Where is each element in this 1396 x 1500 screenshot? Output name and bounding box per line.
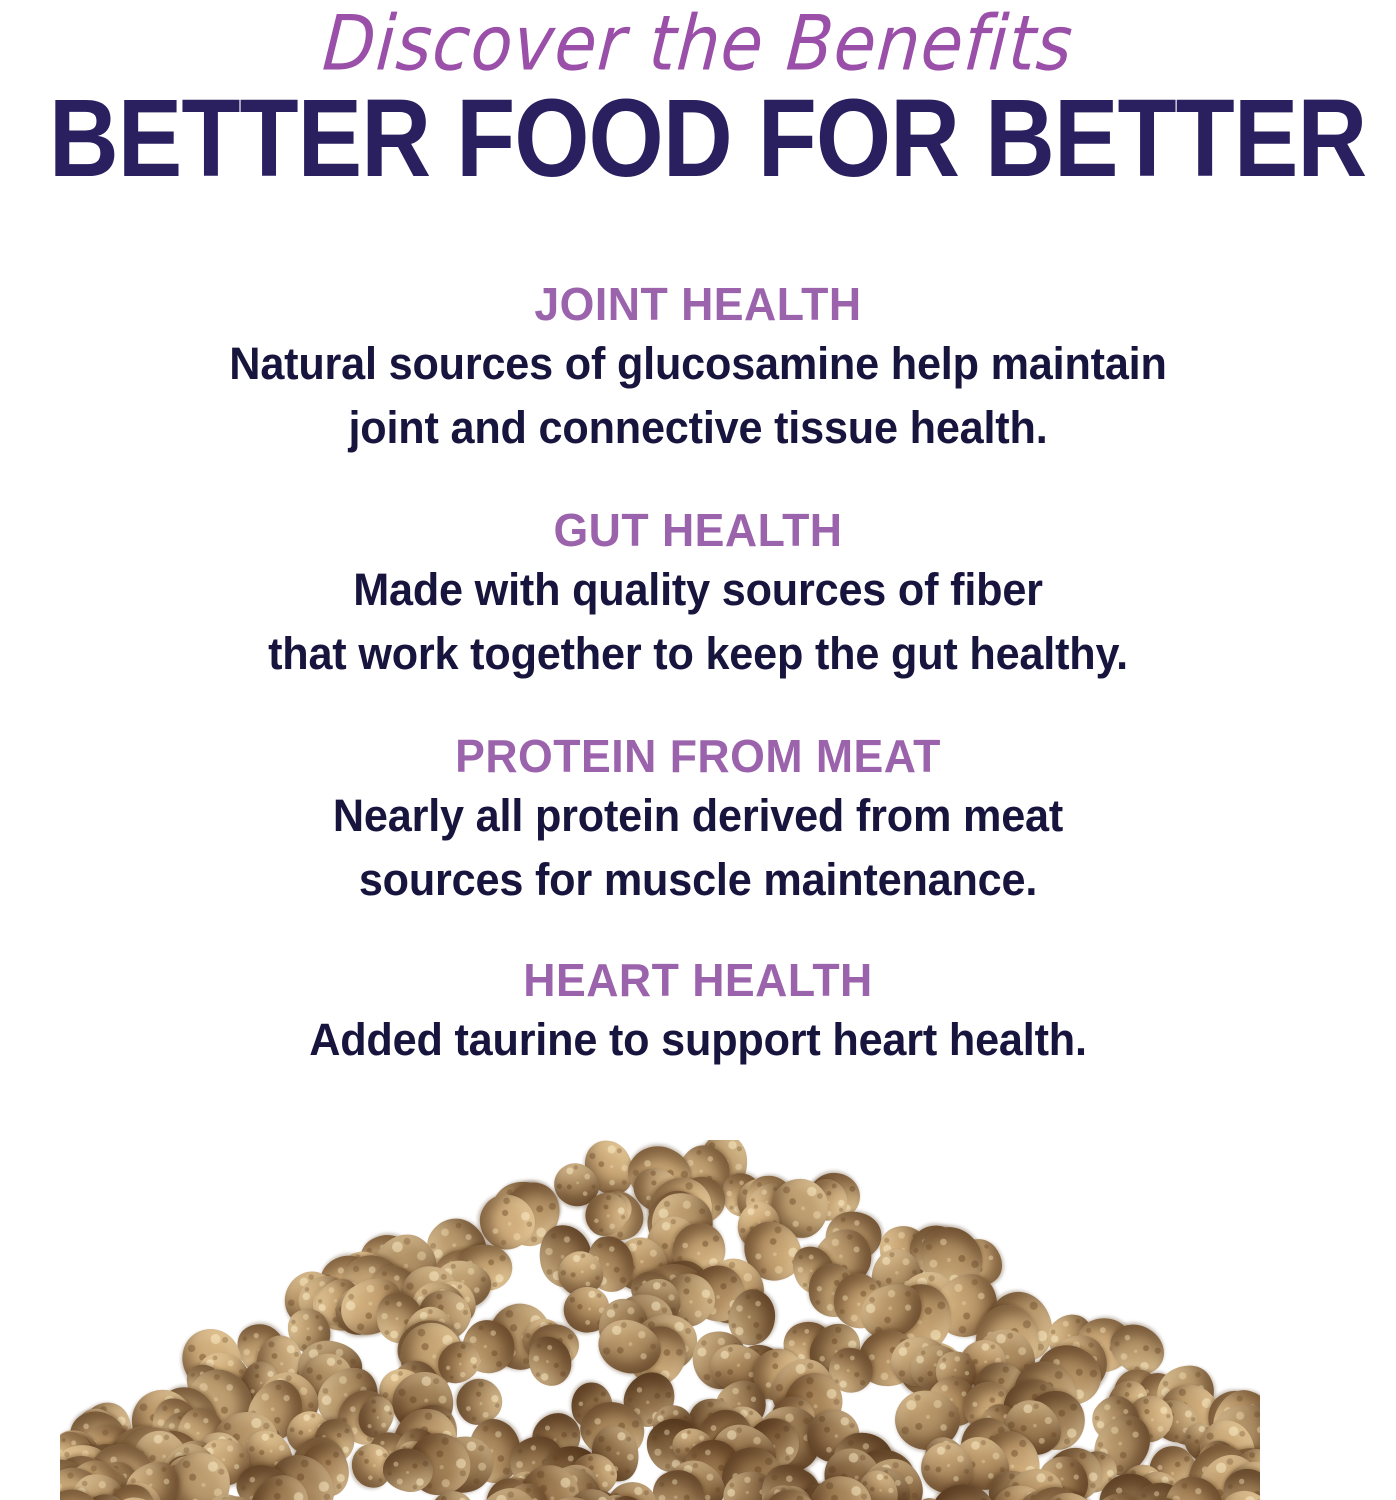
- benefit-line: that work together to keep the gut healt…: [28, 622, 1368, 686]
- benefit-title-protein-from-meat: PROTEIN FROM MEAT: [21, 728, 1375, 784]
- benefit-line: Nearly all protein derived from meat: [28, 784, 1368, 848]
- benefit-heart-health: HEART HEALTH Added taurine to support he…: [0, 952, 1396, 1072]
- benefit-description-gut-health: Made with quality sources of fiber that …: [28, 558, 1368, 686]
- benefit-line: joint and connective tissue health.: [28, 396, 1368, 460]
- benefit-title-joint-health: JOINT HEALTH: [21, 276, 1375, 332]
- benefit-description-joint-health: Natural sources of glucosamine help main…: [28, 332, 1368, 460]
- benefit-description-heart-health: Added taurine to support heart health.: [28, 1008, 1368, 1072]
- benefit-protein-from-meat: PROTEIN FROM MEAT Nearly all protein der…: [0, 728, 1396, 912]
- benefit-description-protein-from-meat: Nearly all protein derived from meat sou…: [28, 784, 1368, 912]
- benefit-joint-health: JOINT HEALTH Natural sources of glucosam…: [0, 276, 1396, 460]
- benefit-line: Natural sources of glucosamine help main…: [28, 332, 1368, 396]
- page-title: BETTER FOOD FOR BETTER HEALTH: [49, 84, 1347, 194]
- benefit-title-gut-health: GUT HEALTH: [21, 502, 1375, 558]
- benefits-list: JOINT HEALTH Natural sources of glucosam…: [0, 276, 1396, 1072]
- benefit-title-heart-health: HEART HEALTH: [21, 952, 1375, 1008]
- kibble-pile-photo: [60, 1140, 1260, 1500]
- benefit-line: Made with quality sources of fiber: [28, 558, 1368, 622]
- benefit-line: Added taurine to support heart health.: [28, 1008, 1368, 1072]
- benefit-gut-health: GUT HEALTH Made with quality sources of …: [0, 502, 1396, 686]
- benefit-line: sources for muscle maintenance.: [28, 848, 1368, 912]
- promo-page: Discover the Benefits BETTER FOOD FOR BE…: [0, 0, 1396, 1500]
